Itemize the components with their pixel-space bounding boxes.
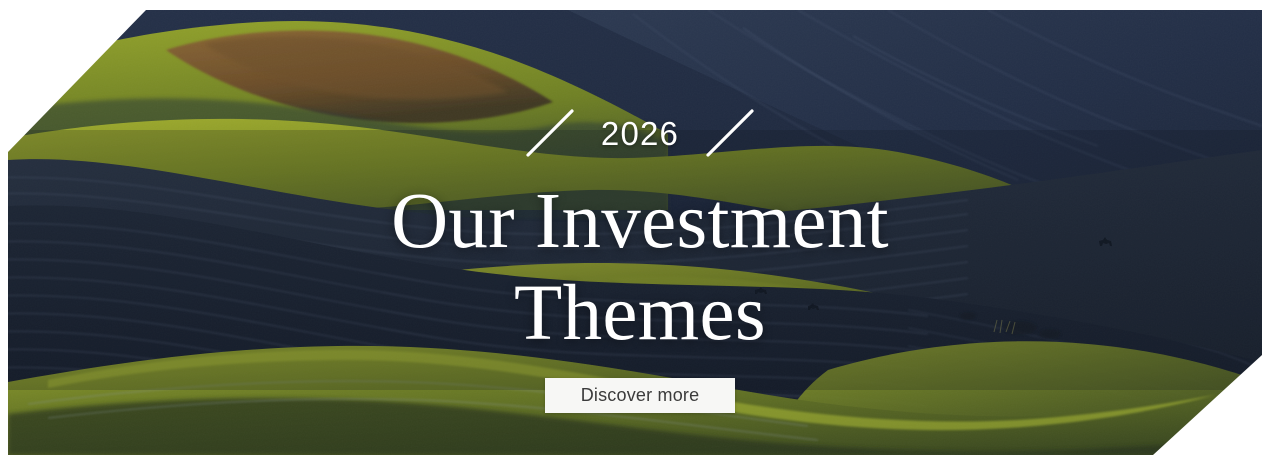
cta-row: Discover more <box>0 378 1280 413</box>
hero-banner: 2026 Our Investment Themes Discover more <box>0 0 1280 473</box>
discover-more-button[interactable]: Discover more <box>545 378 735 413</box>
